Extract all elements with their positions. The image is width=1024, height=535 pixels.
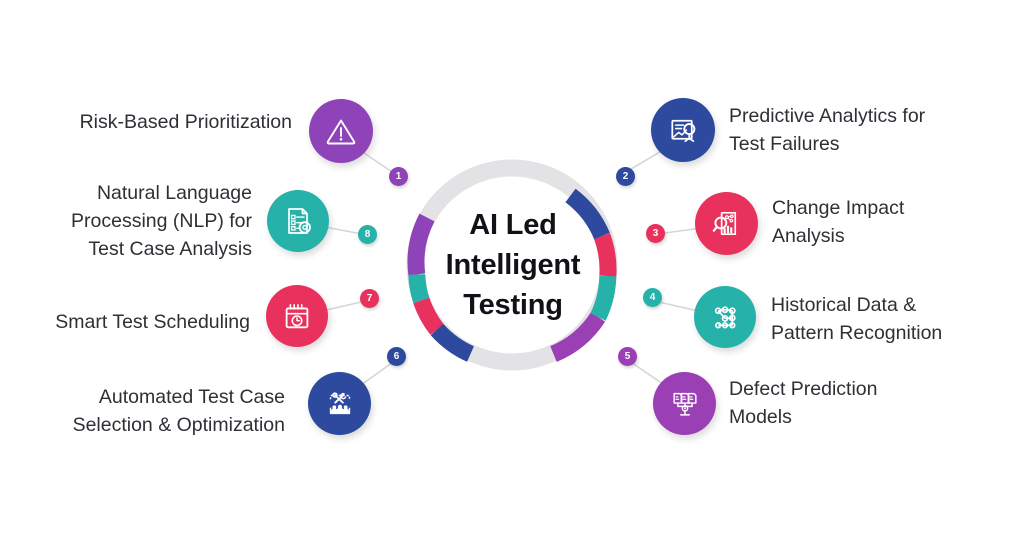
- calendar-clock-icon: [280, 299, 314, 333]
- badge-7[interactable]: 7: [360, 289, 379, 308]
- label-1: Risk-Based Prioritization: [22, 108, 292, 136]
- badge-6-number: 6: [394, 347, 400, 366]
- badge-4-number: 4: [650, 288, 656, 307]
- icon-node-2[interactable]: [651, 98, 715, 162]
- badge-6[interactable]: 6: [387, 347, 406, 366]
- center-title-line-3: Testing: [403, 285, 623, 325]
- label-6: Automated Test Case Selection & Optimiza…: [10, 383, 285, 439]
- badge-8-number: 8: [365, 225, 371, 244]
- badge-1-number: 1: [396, 167, 402, 186]
- badge-5-number: 5: [625, 347, 631, 366]
- label-5: Defect Prediction Models: [729, 375, 989, 431]
- analytics-report-icon: [666, 113, 701, 148]
- infographic-canvas: AI Led Intelligent Testing 1 Risk-Based …: [0, 0, 1024, 535]
- badge-1[interactable]: 1: [389, 167, 408, 186]
- badge-8[interactable]: 8: [358, 225, 377, 244]
- badge-2[interactable]: 2: [616, 167, 635, 186]
- center-title: AI Led Intelligent Testing: [403, 205, 623, 325]
- badge-7-number: 7: [367, 289, 373, 308]
- warning-triangle-icon: [323, 113, 359, 149]
- icon-node-6[interactable]: [308, 372, 371, 435]
- badge-5[interactable]: 5: [618, 347, 637, 366]
- checklist-gear-icon: [280, 203, 316, 239]
- badge-4[interactable]: 4: [643, 288, 662, 307]
- icon-node-5[interactable]: [653, 372, 716, 435]
- icon-node-8[interactable]: [267, 190, 329, 252]
- icon-node-7[interactable]: [266, 285, 328, 347]
- icon-node-4[interactable]: [694, 286, 756, 348]
- label-4: Historical Data & Pattern Recognition: [771, 291, 1024, 347]
- badge-3[interactable]: 3: [646, 224, 665, 243]
- badge-2-number: 2: [623, 167, 629, 186]
- badge-3-number: 3: [653, 224, 659, 243]
- icon-node-1[interactable]: [309, 99, 373, 163]
- center-title-line-2: Intelligent: [403, 245, 623, 285]
- tools-team-icon: [323, 387, 357, 421]
- icon-node-3[interactable]: [695, 192, 758, 255]
- magnifier-chart-icon: [709, 206, 744, 241]
- label-7: Smart Test Scheduling: [10, 308, 250, 336]
- label-3: Change Impact Analysis: [772, 194, 1024, 250]
- documents-gear-icon: [668, 387, 702, 421]
- label-2: Predictive Analytics for Test Failures: [729, 102, 1009, 158]
- node-network-icon: [708, 300, 743, 335]
- center-title-line-1: AI Led: [403, 205, 623, 245]
- label-8: Natural Language Processing (NLP) for Te…: [22, 179, 252, 263]
